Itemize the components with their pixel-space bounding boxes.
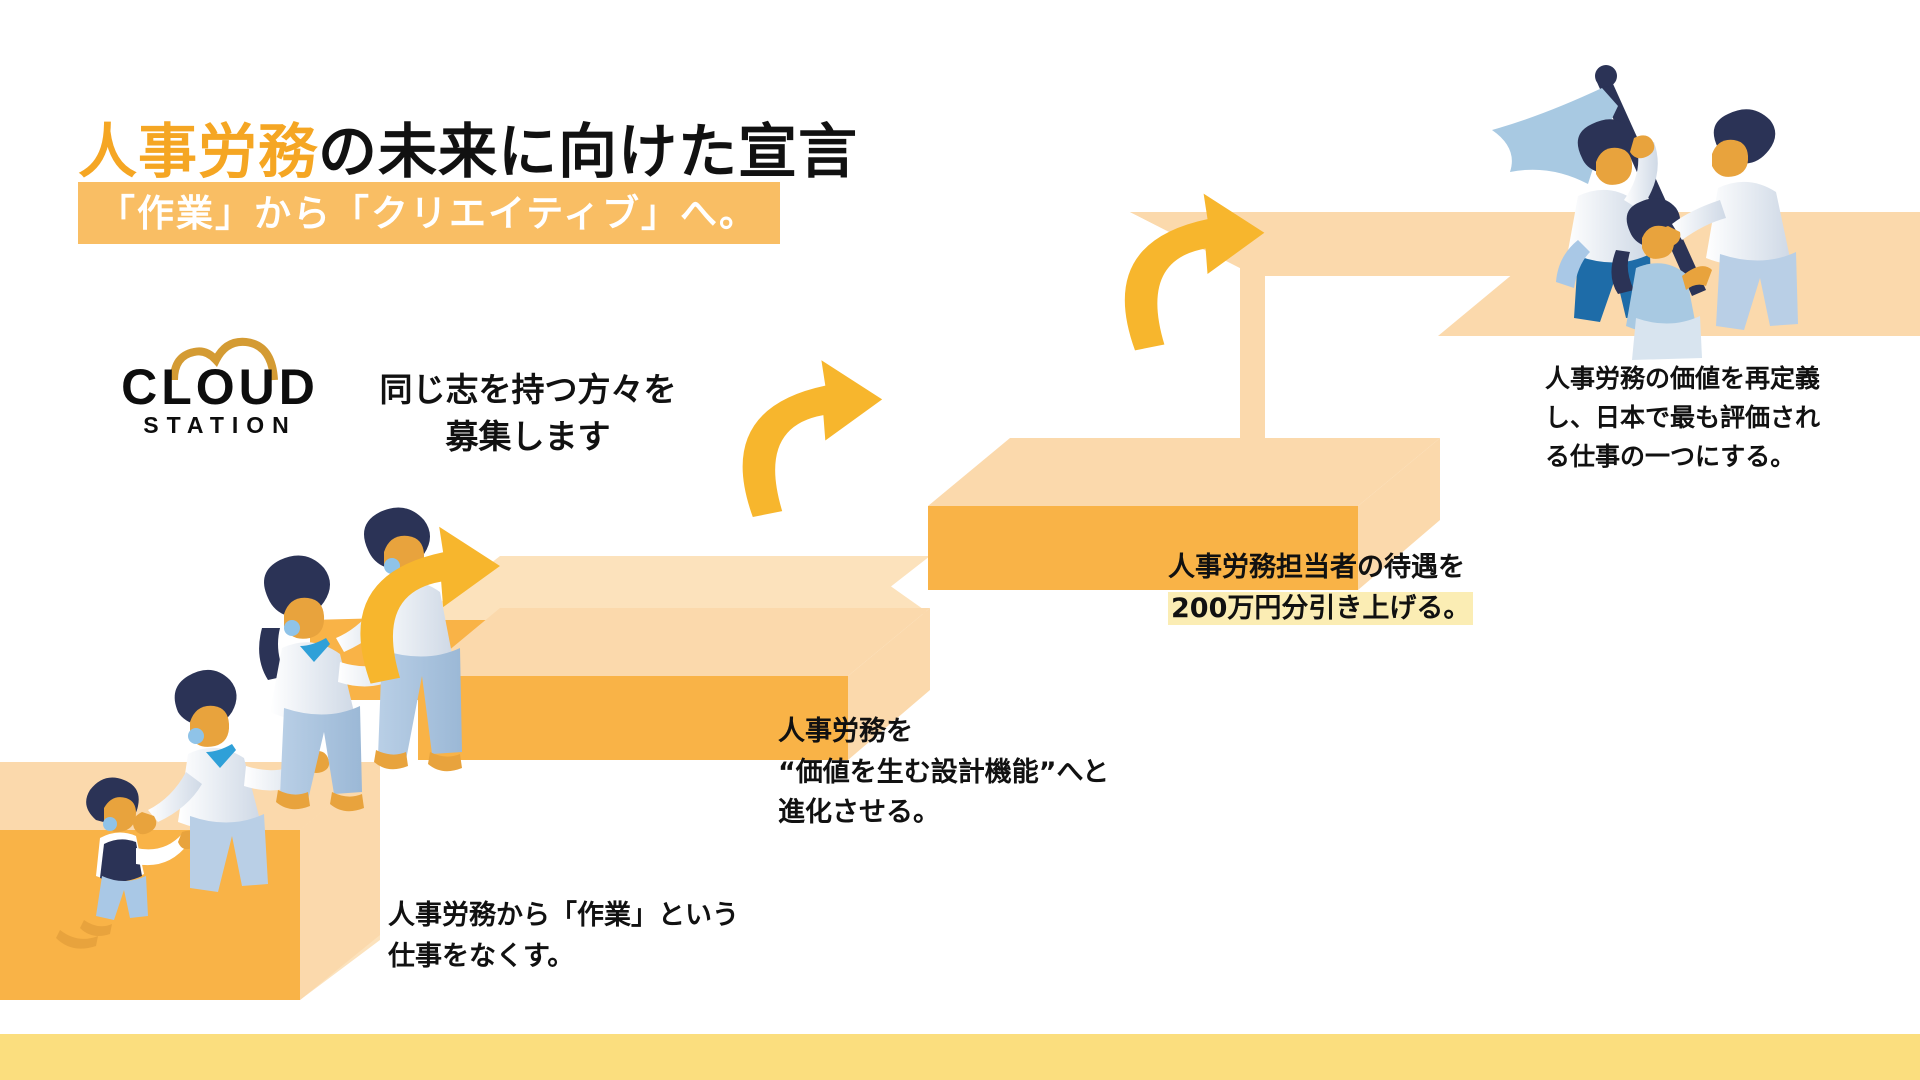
step-caption-4-line-3: る仕事の一つにする。 xyxy=(1545,438,1895,477)
step-caption-4: 人事労務の価値を再定義 し、日本で最も評価され る仕事の一つにする。 xyxy=(1545,360,1895,476)
step-caption-1: 人事労務から「作業」という 仕事をなくす。 xyxy=(388,896,858,977)
curved-arrow-icon-2 xyxy=(743,360,883,517)
subtitle-text: 「作業」から「クリエイティブ」へ。 xyxy=(98,195,758,232)
step-caption-2-line-3: 進化させる。 xyxy=(778,793,1228,834)
page-title-highlight: 人事労務 xyxy=(78,117,318,186)
step-caption-1-line-1: 人事労務から「作業」という xyxy=(388,896,858,937)
step-caption-3-highlight: 200万円分引き上げる。 xyxy=(1168,592,1473,625)
recruit-line-2: 募集します xyxy=(358,414,698,461)
step-caption-4-line-1: 人事労務の価値を再定義 xyxy=(1545,360,1895,399)
step-caption-3: 人事労務担当者の待遇を 200万円分引き上げる。 xyxy=(1168,548,1588,629)
step-caption-2-line-2: “価値を生む設計機能”へと xyxy=(778,753,1228,794)
page-title: 人事労務の未来に向けた宣言 xyxy=(78,104,858,189)
step-caption-2-line-1: 人事労務を xyxy=(778,712,1228,753)
bottom-accent-bar xyxy=(0,1034,1920,1080)
poster-canvas: 人事労務の未来に向けた宣言 「作業」から「クリエイティブ」へ。 CLOUD ST… xyxy=(0,0,1920,1080)
logo-wordmark: CLOUD xyxy=(110,362,330,412)
logo-subtext: STATION xyxy=(110,414,330,437)
cloud-station-logo: CLOUD STATION xyxy=(110,340,330,432)
recruit-message: 同じ志を持つ方々を 募集します xyxy=(358,367,698,461)
subtitle-banner: 「作業」から「クリエイティブ」へ。 xyxy=(78,182,780,244)
step-caption-3-line-1: 人事労務担当者の待遇を xyxy=(1168,548,1588,589)
recruit-line-1: 同じ志を持つ方々を xyxy=(358,367,698,414)
page-title-rest: の未来に向けた宣言 xyxy=(318,117,858,186)
step-caption-1-line-2: 仕事をなくす。 xyxy=(388,937,858,978)
step-caption-2: 人事労務を “価値を生む設計機能”へと 進化させる。 xyxy=(778,712,1228,834)
step-caption-4-line-2: し、日本で最も評価され xyxy=(1545,399,1895,438)
step-caption-3-highlight-wrap: 200万円分引き上げる。 xyxy=(1168,589,1588,630)
